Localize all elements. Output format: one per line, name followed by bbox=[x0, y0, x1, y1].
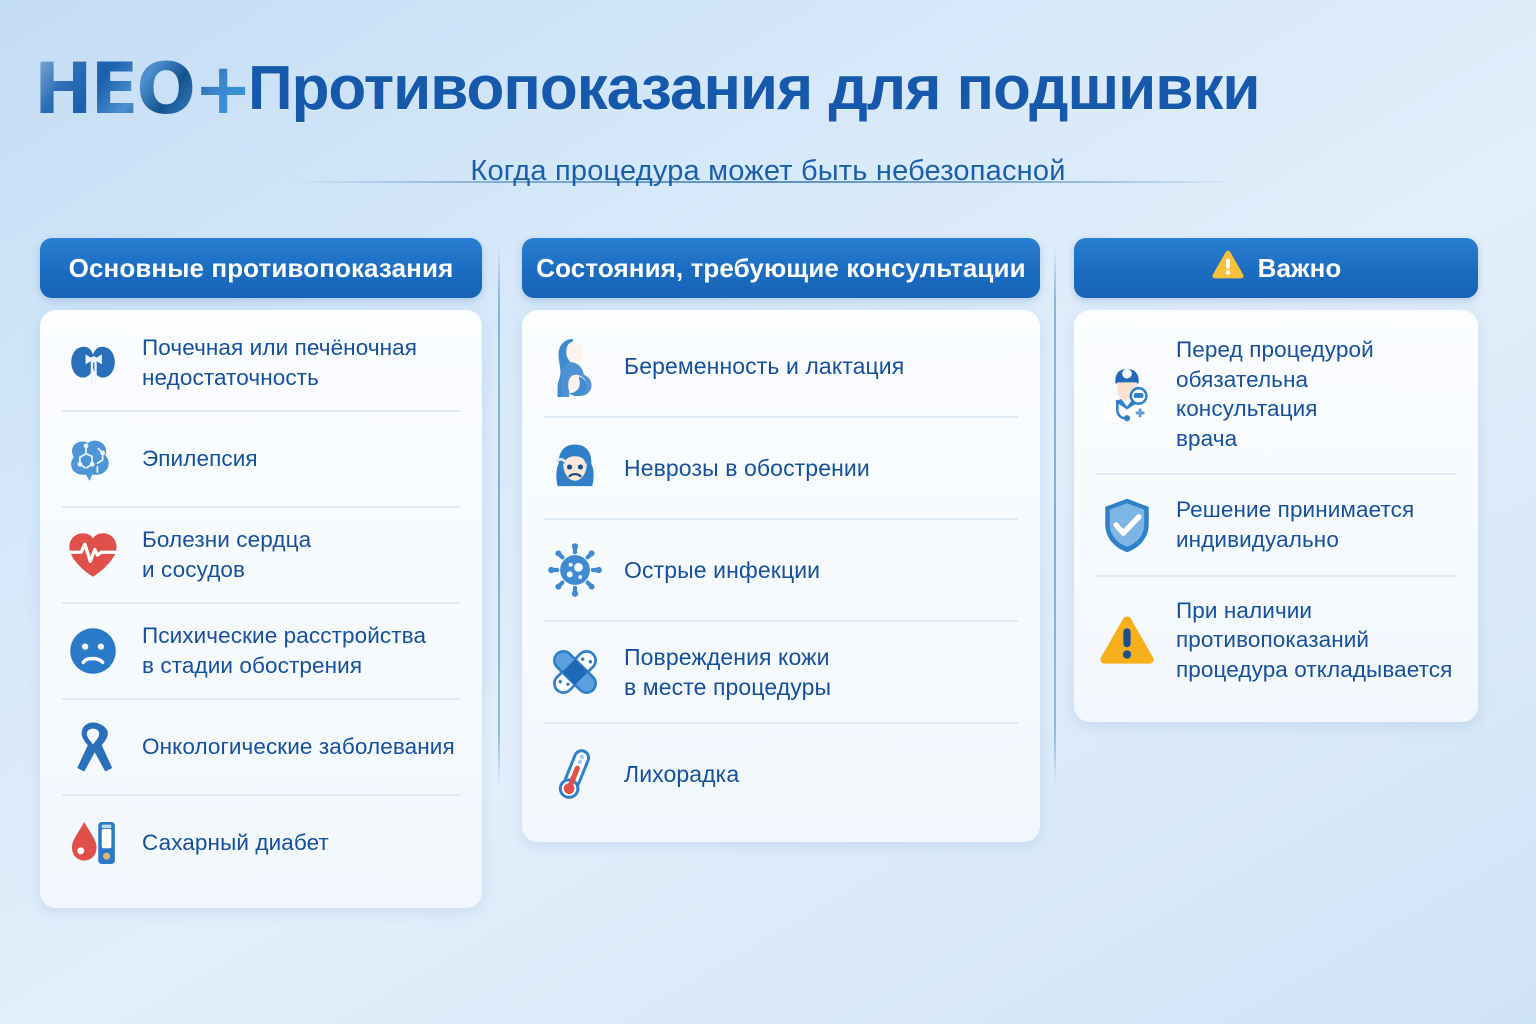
list-item-label: При наличии противопоказаний процедура о… bbox=[1176, 596, 1452, 685]
bandage-icon bbox=[544, 641, 606, 703]
list-item[interactable]: Сахарный диабет bbox=[62, 796, 460, 890]
list-item-label: Психические расстройства в стадии обостр… bbox=[142, 621, 426, 680]
column-main-contraindications: Основные противопоказания bbox=[40, 238, 482, 908]
column-header-important: Важно bbox=[1074, 238, 1478, 298]
list-item[interactable]: Эпилепсия bbox=[62, 412, 460, 508]
warning-triangle-icon bbox=[1211, 249, 1245, 287]
thermometer-icon bbox=[544, 743, 606, 805]
list-item-label: Почечная или печёночная недостаточность bbox=[142, 333, 417, 392]
list-item-label: Лихорадка bbox=[624, 759, 739, 789]
list-item[interactable]: Острые инфекции bbox=[544, 520, 1018, 622]
list-item[interactable]: Повреждения кожи в месте процедуры bbox=[544, 622, 1018, 724]
page-title: Противопоказания для подшивки bbox=[248, 58, 1260, 120]
list-item-label: Болезни сердца и сосудов bbox=[142, 525, 311, 584]
pregnant-woman-icon bbox=[544, 335, 606, 397]
infographic-page: НЕО+ Противопоказания для подшивки Когда… bbox=[0, 0, 1536, 1024]
list-item-label: Повреждения кожи в месте процедуры bbox=[624, 642, 831, 703]
list-item[interactable]: Болезни сердца и сосудов bbox=[62, 508, 460, 604]
kidneys-icon bbox=[62, 332, 124, 394]
column-conditions-requiring-consultation: Состояния, требующие консультации bbox=[522, 238, 1040, 842]
list-item[interactable]: Неврозы в обострении bbox=[544, 418, 1018, 520]
virus-icon bbox=[544, 539, 606, 601]
shield-check-icon bbox=[1096, 494, 1158, 556]
heart-pulse-icon bbox=[62, 524, 124, 586]
list-item[interactable]: Психические расстройства в стадии обостр… bbox=[62, 604, 460, 700]
list-item-label: Перед процедурой обязательна консультаци… bbox=[1176, 335, 1456, 454]
list-item-label: Острые инфекции bbox=[624, 555, 820, 585]
list-item[interactable]: Почечная или печёночная недостаточность bbox=[62, 316, 460, 412]
anxious-woman-icon bbox=[544, 437, 606, 499]
awareness-ribbon-icon bbox=[62, 716, 124, 778]
warning-triangle-icon bbox=[1096, 609, 1158, 671]
list-item-label: Беременность и лактация bbox=[624, 351, 904, 381]
page-subtitle: Когда процедура может быть небезопасной bbox=[0, 155, 1536, 188]
column-card-main-contraindications: Почечная или печёночная недостаточность bbox=[40, 310, 482, 908]
list-item-label: Решение принимается индивидуально bbox=[1176, 495, 1414, 554]
column-header-label: Состояния, требующие консультации bbox=[536, 253, 1025, 284]
column-separator-1 bbox=[498, 246, 500, 786]
column-header-main-contraindications: Основные противопоказания bbox=[40, 238, 482, 298]
list-item[interactable]: Онкологические заболевания bbox=[62, 700, 460, 796]
glucometer-drop-icon bbox=[62, 812, 124, 874]
column-card-important: Перед процедурой обязательна консультаци… bbox=[1074, 310, 1478, 722]
column-header-label: Основные противопоказания bbox=[69, 253, 454, 284]
list-item-label: Неврозы в обострении bbox=[624, 453, 870, 483]
column-card-conditions-requiring-consultation: Беременность и лактация bbox=[522, 310, 1040, 842]
column-header-label: Важно bbox=[1258, 253, 1342, 284]
neo-plus-logo: НЕО+ bbox=[34, 54, 251, 124]
list-item-label: Эпилепсия bbox=[142, 444, 258, 474]
list-item[interactable]: При наличии противопоказаний процедура о… bbox=[1096, 577, 1456, 704]
list-item-label: Сахарный диабет bbox=[142, 828, 329, 858]
list-item[interactable]: Беременность и лактация bbox=[544, 316, 1018, 418]
brain-icon bbox=[62, 428, 124, 490]
columns-container: Основные противопоказания bbox=[0, 238, 1536, 1024]
sad-face-icon bbox=[62, 620, 124, 682]
column-separator-2 bbox=[1054, 246, 1056, 786]
list-item[interactable]: Решение принимается индивидуально bbox=[1096, 475, 1456, 577]
doctor-icon bbox=[1096, 363, 1158, 425]
column-important: Важно bbox=[1074, 238, 1478, 722]
column-header-conditions-requiring-consultation: Состояния, требующие консультации bbox=[522, 238, 1040, 298]
list-item-label: Онкологические заболевания bbox=[142, 732, 455, 762]
list-item[interactable]: Перед процедурой обязательна консультаци… bbox=[1096, 316, 1456, 475]
list-item[interactable]: Лихорадка bbox=[544, 724, 1018, 824]
